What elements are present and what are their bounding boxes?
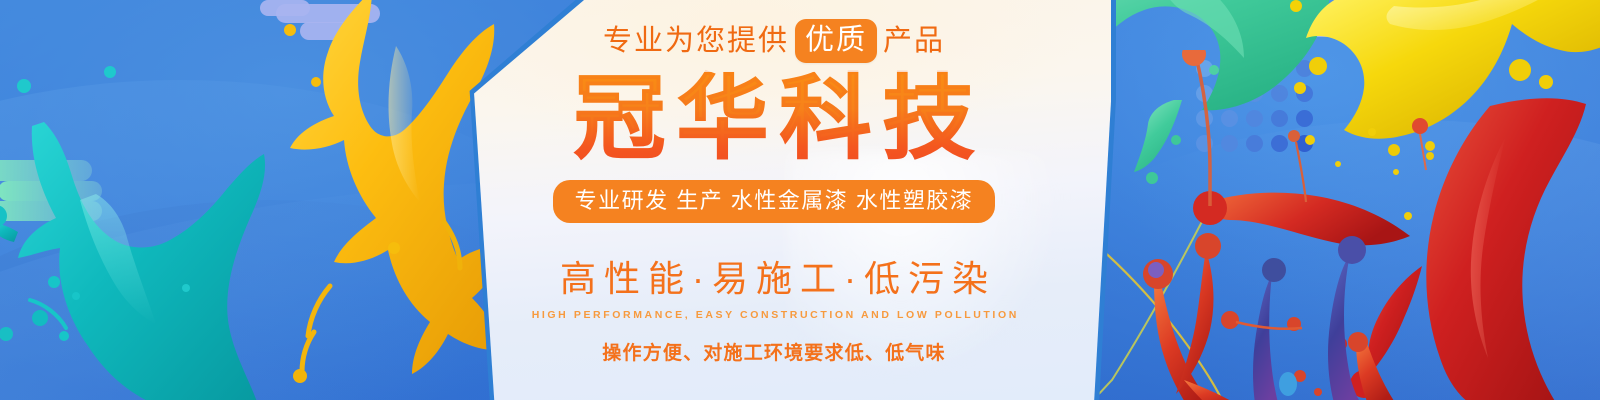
grid-dot xyxy=(1271,60,1288,77)
quality-badge: 优质 xyxy=(795,19,877,63)
grid-dot xyxy=(1196,135,1213,152)
grid-dot xyxy=(1296,60,1313,77)
grid-dot xyxy=(1246,85,1263,102)
grid-dot xyxy=(1246,60,1263,77)
tagline-after: 产品 xyxy=(883,27,945,56)
grid-dot xyxy=(1196,110,1213,127)
grid-dot xyxy=(1221,135,1238,152)
slogan-english: HIGH PERFORMANCE, EASY CONSTRUCTION AND … xyxy=(529,309,1019,321)
grid-dot xyxy=(1271,110,1288,127)
grid-dot xyxy=(1221,60,1238,77)
grid-dot xyxy=(1296,135,1313,152)
grid-dot xyxy=(1221,85,1238,102)
slogan: 高性能·易施工·低污染 xyxy=(552,250,996,302)
lavender-cloud-decoration xyxy=(258,0,390,58)
grid-dot xyxy=(1296,110,1313,127)
sub-note: 操作方便、对施工环境要求低、低气味 xyxy=(602,338,945,365)
company-title: 冠华科技 xyxy=(562,72,985,168)
grid-dot xyxy=(1221,110,1238,127)
services-pill: 专业研发 生产 水性金属漆 水性塑胶漆 xyxy=(553,180,996,224)
grid-dot xyxy=(1246,135,1263,152)
promo-banner: 专业为您提供 优质 产品 冠华科技 专业研发 生产 水性金属漆 水性塑胶漆 高性… xyxy=(0,0,1600,400)
tagline-before: 专业为您提供 xyxy=(603,27,789,56)
green-cloud-decoration xyxy=(0,160,104,224)
grid-dot xyxy=(1196,85,1213,102)
lavender-cloud-decoration-right xyxy=(1262,6,1348,40)
panel-content: 专业为您提供 优质 产品 冠华科技 专业研发 生产 水性金属漆 水性塑胶漆 高性… xyxy=(432,0,1116,400)
grid-dot xyxy=(1196,60,1213,77)
tagline: 专业为您提供 优质 产品 xyxy=(603,19,945,63)
grid-dot xyxy=(1271,85,1288,102)
grid-dot xyxy=(1296,85,1313,102)
grid-dot xyxy=(1246,110,1263,127)
grid-dot xyxy=(1271,135,1288,152)
